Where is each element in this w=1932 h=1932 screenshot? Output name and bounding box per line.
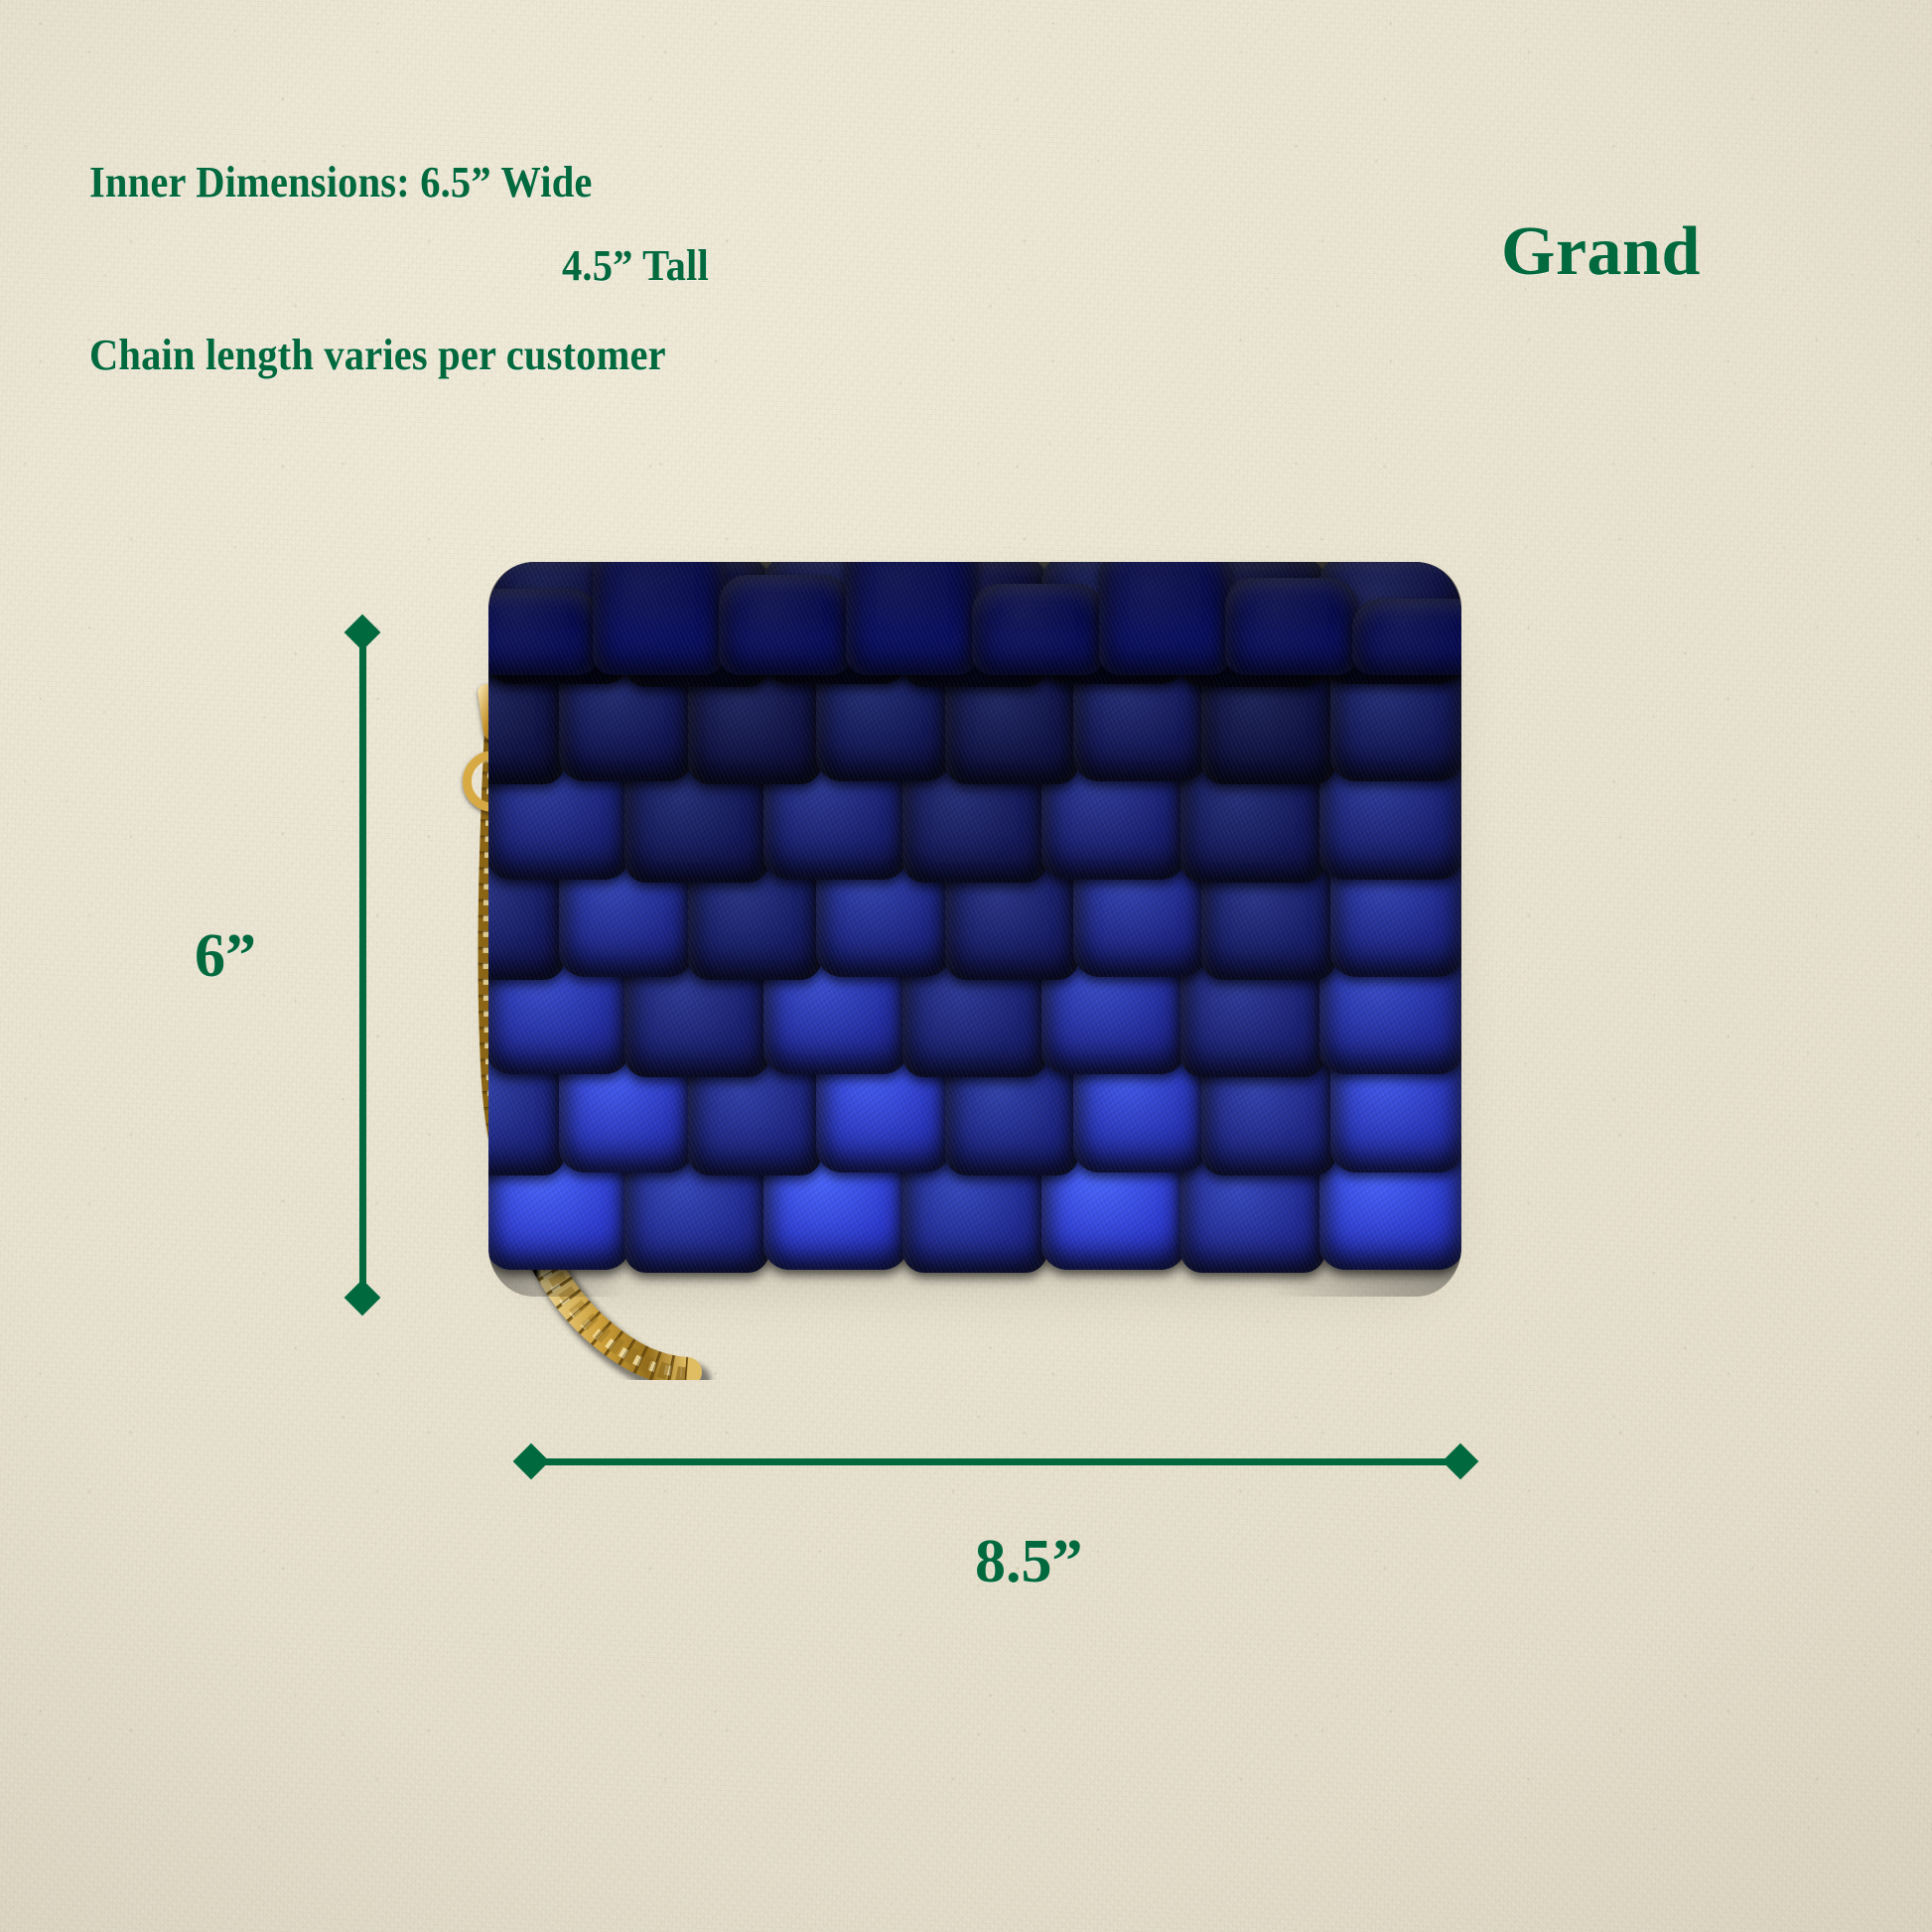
quilt-puff — [488, 589, 599, 675]
width-dimension-label: 8.5” — [975, 1527, 1083, 1597]
quilt-puff — [846, 562, 979, 675]
quilt-crown-row — [488, 562, 1461, 675]
product-bag — [488, 562, 1461, 1297]
quilt-puff — [1225, 578, 1358, 675]
spec-line-inner-dimensions-tall: 4.5” Tall — [562, 240, 709, 291]
quilt-puff — [972, 584, 1105, 675]
height-dimension-label: 6” — [195, 921, 256, 992]
spec-line-chain-length: Chain length varies per customer — [89, 330, 666, 380]
bag-quilted-surface — [488, 562, 1461, 1297]
poster-canvas: Inner Dimensions: 6.5” Wide 4.5” Tall Ch… — [0, 0, 1932, 1932]
width-dimension-line — [528, 1458, 1459, 1465]
brand-title: Grand — [1501, 212, 1701, 292]
spec-line-inner-dimensions-wide: Inner Dimensions: 6.5” Wide — [89, 157, 593, 207]
quilt-puff — [719, 575, 852, 675]
quilt-puff — [1099, 562, 1232, 675]
height-dimension-line — [359, 629, 366, 1297]
quilt-puff — [593, 562, 726, 675]
quilt-puff — [1352, 599, 1462, 675]
